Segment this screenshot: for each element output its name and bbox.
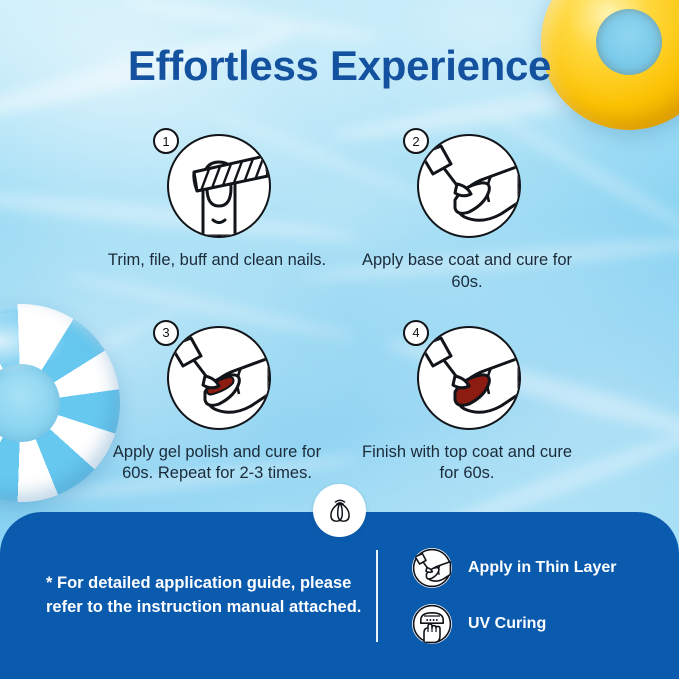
panel-content: * For detailed application guide, please… xyxy=(0,512,679,679)
top-coat-brush-icon xyxy=(417,326,521,430)
step-4: 4 Finish with top coat and cure for 60s. xyxy=(342,320,592,486)
step-2: 2 Apply base coat and cure for 60s. xyxy=(342,128,592,294)
gel-polish-brush-icon xyxy=(167,326,271,430)
step-1: 1 Trim, file, buff and clean nails. xyxy=(92,128,342,294)
base-coat-brush-icon xyxy=(417,134,521,238)
steps-grid: 1 Trim, file, buff and clean nails. xyxy=(92,128,592,485)
gel-polish-svg xyxy=(169,328,269,428)
step-1-number: 1 xyxy=(153,128,179,154)
base-coat-svg xyxy=(419,136,519,236)
step-1-caption: Trim, file, buff and clean nails. xyxy=(102,250,332,272)
top-coat-svg xyxy=(419,328,519,428)
nail-file-svg xyxy=(169,136,269,236)
feature-uv-curing-label: UV Curing xyxy=(468,615,546,633)
step-3-illustration: 3 xyxy=(153,320,281,432)
step-2-caption: Apply base coat and cure for 60s. xyxy=(352,250,582,294)
feature-uv-curing: UV Curing xyxy=(412,604,616,644)
step-2-number: 2 xyxy=(403,128,429,154)
step-2-illustration: 2 xyxy=(403,128,531,240)
bottom-info-panel: * For detailed application guide, please… xyxy=(0,512,679,679)
uv-lamp-icon xyxy=(412,604,452,644)
step-3-caption: Apply gel polish and cure for 60s. Repea… xyxy=(102,442,332,486)
feature-list: Apply in Thin Layer xyxy=(412,548,616,644)
steps-row-top: 1 Trim, file, buff and clean nails. xyxy=(92,128,592,294)
nail-logo-svg xyxy=(323,494,357,528)
feature-thin-layer: Apply in Thin Layer xyxy=(412,548,616,588)
uv-lamp-svg xyxy=(412,604,452,644)
step-3: 3 Apply gel polish and cure for 60s. Rep… xyxy=(92,320,342,486)
manual-note: * For detailed application guide, please… xyxy=(46,572,376,620)
step-4-number: 4 xyxy=(403,320,429,346)
step-3-number: 3 xyxy=(153,320,179,346)
thin-layer-brush-icon xyxy=(412,548,452,588)
nail-logo-badge xyxy=(313,484,366,537)
panel-divider xyxy=(376,550,378,642)
step-1-illustration: 1 xyxy=(153,128,281,240)
nail-file-icon xyxy=(167,134,271,238)
step-4-caption: Finish with top coat and cure for 60s. xyxy=(352,442,582,486)
page-title: Effortless Experience xyxy=(0,42,679,90)
steps-row-bottom: 3 Apply gel polish and cure for 60s. Rep… xyxy=(92,320,592,486)
feature-thin-layer-label: Apply in Thin Layer xyxy=(468,559,616,577)
thin-layer-svg xyxy=(412,548,452,588)
poster-root: Effortless Experience xyxy=(0,0,679,679)
step-4-illustration: 4 xyxy=(403,320,531,432)
